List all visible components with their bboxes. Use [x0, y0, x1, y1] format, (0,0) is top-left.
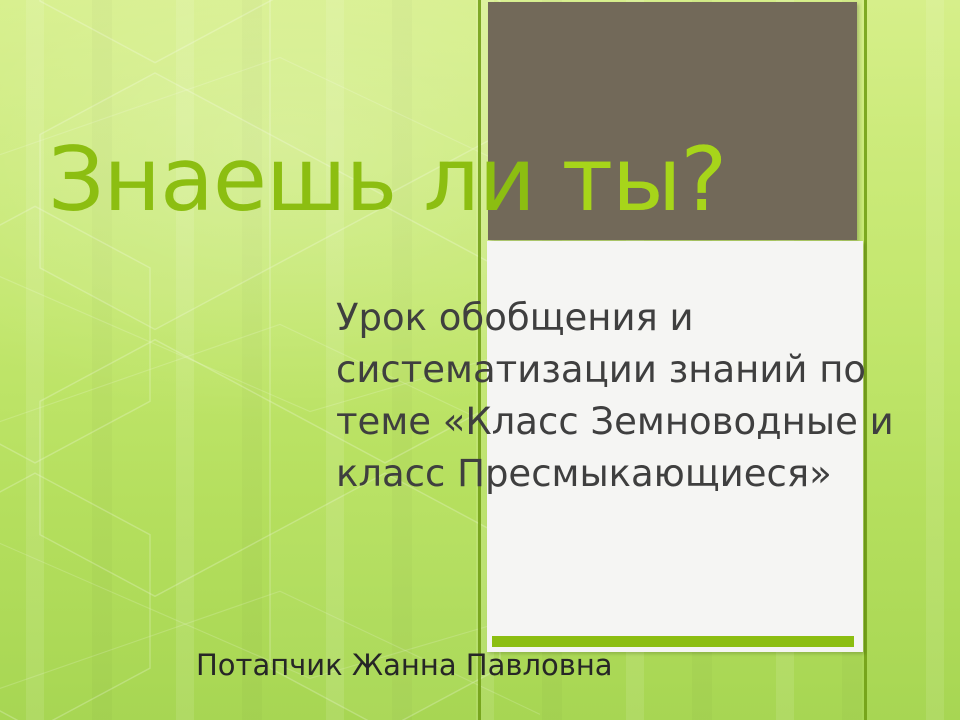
- title-dark-block: [488, 2, 857, 240]
- slide-author: Потапчик Жанна Павловна: [196, 645, 613, 685]
- slide-subtitle: Урок обобщения и систематизации знаний п…: [336, 292, 896, 500]
- presentation-slide: Знаешь ли ты? Знаешь ли ты? Урок обобщен…: [0, 0, 960, 720]
